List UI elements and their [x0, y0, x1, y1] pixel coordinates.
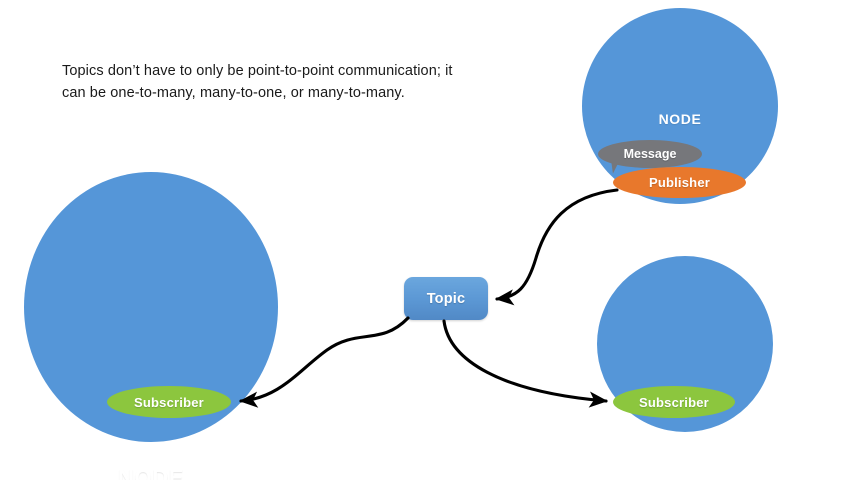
subscriber-pill-right[interactable]: Subscriber — [613, 386, 735, 418]
arrow-publisher-to-topic — [497, 190, 617, 299]
arrow-topic-to-right-subscriber — [444, 321, 606, 401]
node-top-right-label: NODE — [582, 111, 778, 127]
publisher-label: Publisher — [649, 175, 710, 190]
diagram-canvas: Topics don’t have to only be point-to-po… — [0, 0, 854, 480]
topic-box[interactable]: Topic — [404, 277, 488, 320]
subscriber-pill-left[interactable]: Subscriber — [107, 386, 231, 418]
node-left-label: NODE — [24, 465, 278, 480]
subscriber-right-label: Subscriber — [639, 395, 709, 410]
subscriber-left-label: Subscriber — [134, 395, 204, 410]
message-label: Message — [624, 147, 677, 161]
caption-text: Topics don’t have to only be point-to-po… — [62, 60, 482, 104]
topic-label: Topic — [427, 291, 466, 307]
publisher-pill[interactable]: Publisher — [613, 167, 746, 198]
message-bubble[interactable]: Message — [598, 140, 702, 168]
